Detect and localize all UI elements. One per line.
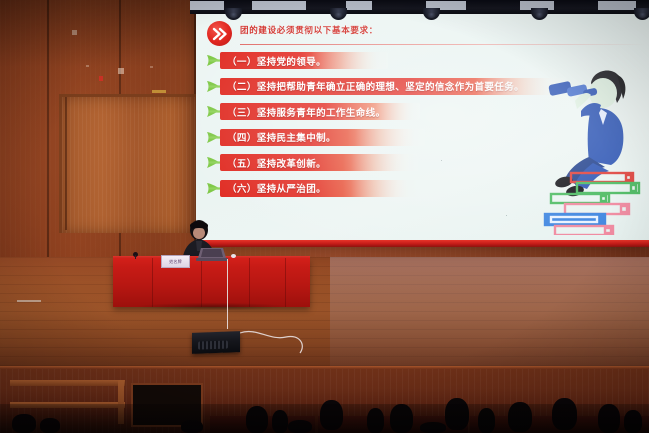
bar-fade — [351, 180, 418, 197]
screen-bottom-trim — [196, 240, 649, 247]
projection-screen: 团的建设必须贯彻以下基本要求： （一）坚持党的领导。 — [196, 10, 649, 246]
bullet-text: （二）坚持把帮助青年确立正确的理想、坚定的信念作为首要任务。 — [227, 79, 524, 93]
bullet-bar: （五）坚持改革创新。 — [220, 154, 418, 171]
cloth-fold — [201, 258, 202, 307]
slide-header-text: 团的建设必须贯彻以下基本要求： — [240, 24, 378, 36]
truss-panel — [190, 1, 224, 10]
auditorium-photo: 团的建设必须贯彻以下基本要求： （一）坚持党的领导。 — [0, 0, 649, 433]
person-with-telescope-on-books-illustration — [531, 65, 643, 235]
slide-header: 团的建设必须贯彻以下基本要求： — [204, 20, 640, 46]
bullet-bar: （三）坚持服务青年的工作生命线。 — [220, 103, 420, 120]
microphone-stem — [135, 255, 136, 259]
cloth-fold — [285, 258, 286, 307]
bullet-bar: （一）坚持党的领导。 — [220, 52, 388, 69]
slide-header-rule — [240, 44, 645, 45]
bullet-text: （六）坚持从严治团。 — [227, 181, 326, 195]
table-shadow — [110, 303, 314, 310]
name-card: 姓名牌 — [161, 255, 190, 268]
cloth-fold — [249, 258, 250, 307]
truss-panel — [598, 1, 636, 10]
truss-panel — [346, 1, 372, 10]
bullet-bar: （二）坚持把帮助青年确立正确的理想、坚定的信念作为首要任务。 — [220, 78, 565, 95]
screen-speck — [441, 160, 442, 161]
cup — [231, 254, 236, 258]
cloth-fold — [152, 258, 153, 307]
lighting-truss — [190, 0, 649, 14]
stage-monitor-speaker — [192, 331, 240, 354]
speaker-grille — [198, 341, 228, 350]
bullet-text: （四）坚持民主集中制。 — [227, 130, 336, 144]
bullet-text: （五）坚持改革创新。 — [227, 156, 326, 170]
cable — [227, 259, 228, 329]
laptop[interactable] — [196, 246, 228, 259]
red-draped-table — [113, 258, 310, 307]
bullet-text: （一）坚持党的领导。 — [227, 54, 326, 68]
shelf-plank — [10, 380, 125, 386]
bullet-bar: （六）坚持从严治团。 — [220, 180, 418, 197]
bullet-text: （三）坚持服务青年的工作生命线。 — [227, 105, 385, 119]
name-card-text: 姓名牌 — [169, 259, 182, 265]
bar-fade — [351, 154, 418, 171]
double-chevron-right-icon — [207, 21, 232, 46]
cable — [240, 327, 300, 353]
audience-shadow-overlay — [0, 404, 649, 433]
truss-panel — [252, 1, 306, 10]
bar-fade — [355, 129, 425, 146]
bullet-bar: （四）坚持民主集中制。 — [220, 129, 425, 146]
screen-speck — [506, 215, 507, 216]
